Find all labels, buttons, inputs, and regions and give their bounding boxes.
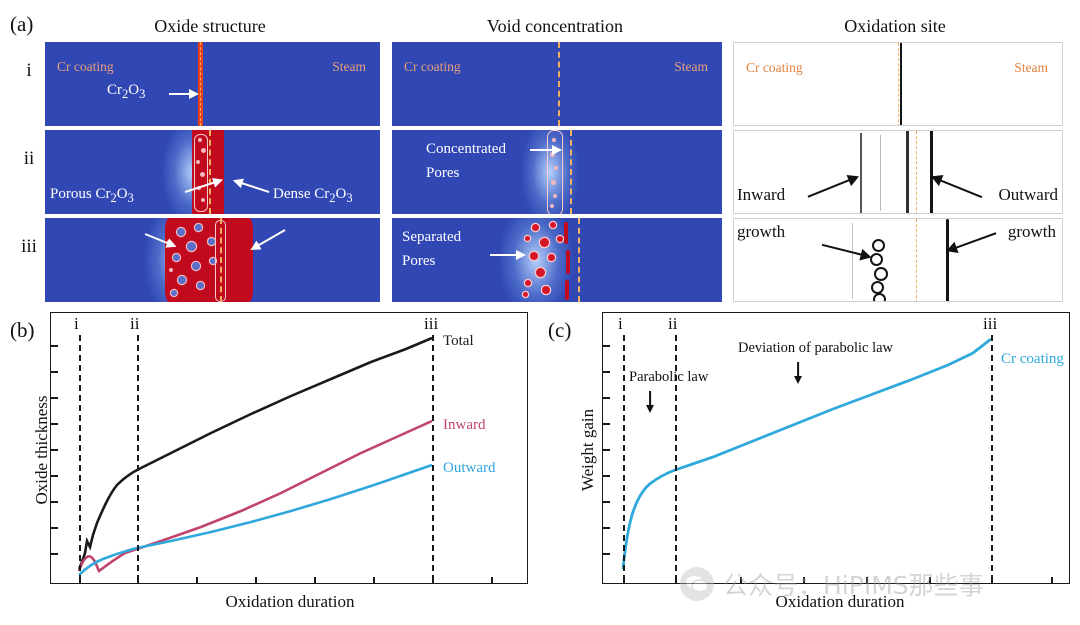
- pore-outline: [871, 281, 884, 294]
- tile-void-concentration-ii: Concentrated Pores: [392, 130, 722, 214]
- annotation-separated-pores-line1: Separated: [402, 229, 461, 246]
- y-tick: [603, 397, 610, 399]
- series-label-inward: Inward: [443, 417, 485, 434]
- tile-label-steam: Steam: [674, 59, 708, 75]
- marker-line-ii: [137, 335, 139, 571]
- cr2o3-sub2: 3: [139, 87, 145, 101]
- oxidation-site-streak: [900, 43, 902, 126]
- interface-dash-line: [200, 42, 201, 126]
- x-tick: [675, 575, 677, 583]
- marker-line-i: [79, 335, 81, 571]
- pore-outline: [874, 267, 888, 281]
- arrow-outward-growth: [930, 176, 982, 197]
- tile-oxidation-site-ii: Inward Outward: [733, 130, 1063, 214]
- interface-dash-line: [898, 43, 899, 126]
- x-tick: [740, 577, 742, 583]
- x-tick: [432, 575, 434, 583]
- pore: [195, 224, 202, 231]
- marker-line-iii: [432, 335, 434, 571]
- tile-void-concentration-iii: Separated Pores: [392, 218, 722, 302]
- y-tick: [51, 475, 58, 477]
- arrow-down-deviation: [793, 362, 803, 384]
- panel-c-letter: (c): [548, 318, 571, 343]
- row-numeral-ii: ii: [16, 148, 42, 170]
- pore-band-outline: [194, 134, 208, 212]
- annotation-dense-cr2o3: Dense Cr2O3: [273, 186, 353, 206]
- annotation-inward-growth-line2: growth: [737, 222, 785, 242]
- annotation-porous-cr2o3: Porous Cr2O3: [50, 186, 134, 206]
- pore: [525, 236, 530, 241]
- oxide-streak: [565, 280, 569, 300]
- x-tick: [929, 577, 931, 583]
- pore: [171, 290, 177, 296]
- chart-c-marker-ii: ii: [668, 314, 677, 334]
- cr2o3-pre: Cr: [107, 82, 122, 98]
- y-tick: [603, 345, 610, 347]
- annotation-deviation-parabolic-law: Deviation of parabolic law: [738, 340, 893, 357]
- cr2o3-mid: O: [128, 82, 139, 98]
- y-tick: [51, 397, 58, 399]
- y-tick: [51, 423, 58, 425]
- pore: [551, 180, 556, 185]
- x-tick: [991, 575, 993, 583]
- chart-b-marker-ii: ii: [130, 314, 139, 334]
- row-numeral-i: i: [16, 60, 42, 82]
- x-tick: [314, 577, 316, 583]
- annotation-concentrated-pores-line2: Pores: [426, 165, 459, 182]
- y-tick: [51, 371, 58, 373]
- porous-prefix: Porous: [50, 186, 95, 202]
- panel-a-letter: (a): [10, 12, 33, 37]
- pore: [178, 276, 186, 284]
- annotation-concentrated-pores-line1: Concentrated: [426, 141, 506, 158]
- x-tick: [255, 577, 257, 583]
- y-tick: [603, 371, 610, 373]
- chart-b-marker-i: i: [74, 314, 79, 334]
- chart-b-marker-iii: iii: [424, 314, 438, 334]
- y-tick: [51, 553, 58, 555]
- panel-b-letter: (b): [10, 318, 35, 343]
- y-tick: [51, 527, 58, 529]
- pore: [548, 254, 555, 261]
- tile-oxidation-site-i: Cr coating Steam: [733, 42, 1063, 126]
- interface-dash-line: [916, 131, 917, 214]
- x-tick: [137, 575, 139, 583]
- marker-line-iii: [991, 335, 993, 571]
- pore-band-outline: [547, 130, 563, 214]
- pore: [197, 282, 204, 289]
- interface-dash-line: [209, 130, 211, 214]
- pore: [552, 138, 556, 142]
- y-tick: [603, 501, 610, 503]
- tile-label-steam: Steam: [1014, 60, 1048, 76]
- pore: [553, 194, 557, 198]
- series-label-outward: Outward: [443, 460, 496, 477]
- arrow-down-parabolic-law: [645, 391, 655, 413]
- y-tick: [51, 501, 58, 503]
- oxide-streak: [566, 250, 570, 274]
- annotation-outward-growth-line2: growth: [1008, 222, 1056, 242]
- oxidation-site-streak-inner: [860, 133, 862, 213]
- chart-c-xlabel: Oxidation duration: [700, 592, 980, 612]
- series-label-cr-coating: Cr coating: [1001, 351, 1064, 368]
- pore: [187, 242, 196, 251]
- column-title-void-concentration: Void concentration: [405, 16, 705, 37]
- tile-void-concentration-i: Cr coating Steam: [392, 42, 722, 126]
- chart-c-ylabel: Weight gain: [578, 370, 598, 530]
- pore: [542, 286, 550, 294]
- arrow-dense: [233, 180, 269, 192]
- pore: [550, 222, 556, 228]
- pore: [169, 268, 173, 272]
- tile-oxide-structure-i: Cr coating Steam Cr2O3: [45, 42, 380, 126]
- tile-label-cr-coating: Cr coating: [746, 60, 803, 76]
- tile-label-cr-coating: Cr coating: [404, 59, 461, 75]
- series-outward-line: [79, 465, 432, 575]
- interface-dash-line: [916, 219, 917, 302]
- x-tick: [373, 577, 375, 583]
- tile-oxidation-site-iii: growth growth: [733, 218, 1063, 302]
- x-tick: [866, 577, 868, 583]
- column-title-oxidation-site: Oxidation site: [745, 16, 1045, 37]
- oxidation-site-streak-faint: [852, 223, 853, 299]
- chart-b-svg: [51, 313, 527, 583]
- interface-dash-line: [570, 130, 572, 214]
- arrow-inward-growth: [822, 245, 872, 258]
- pore-outline: [873, 293, 886, 302]
- pore: [173, 254, 180, 261]
- y-tick: [603, 423, 610, 425]
- x-tick: [196, 577, 198, 583]
- arrow-outward-growth: [943, 233, 996, 252]
- pore: [525, 280, 531, 286]
- oxidation-site-streak-faint: [880, 135, 881, 211]
- oxidation-site-streak-mid: [906, 131, 909, 214]
- annotation-separated-pores-line2: Pores: [402, 253, 435, 270]
- y-tick: [603, 553, 610, 555]
- pore: [192, 262, 200, 270]
- tile-oxide-structure-ii: Porous Cr2O3 Dense Cr2O3: [45, 130, 380, 214]
- y-tick: [603, 527, 610, 529]
- series-total-line: [79, 338, 432, 569]
- annotation-outward-growth-line1: Outward: [999, 185, 1058, 205]
- chart-c-marker-iii: iii: [983, 314, 997, 334]
- y-tick: [603, 475, 610, 477]
- oxide-streak: [564, 222, 568, 244]
- x-tick: [79, 575, 81, 583]
- row-numeral-iii: iii: [16, 236, 42, 258]
- tile-oxide-structure-iii: [45, 218, 380, 302]
- annotation-inward-growth-line1: Inward: [737, 185, 785, 205]
- chart-b-xlabel: Oxidation duration: [150, 592, 430, 612]
- arrow-inward-growth: [808, 176, 860, 197]
- chart-c-plot-area: i ii iii Parabolic law Deviation of para…: [602, 312, 1070, 584]
- chart-c-marker-i: i: [618, 314, 623, 334]
- x-tick: [491, 577, 493, 583]
- interface-dash-line: [558, 42, 560, 126]
- annotation-cr2o3: Cr2O3: [107, 82, 145, 102]
- pore: [540, 238, 549, 247]
- interface-dash-line: [220, 218, 222, 302]
- pore: [550, 204, 554, 208]
- chart-b-plot-area: i ii iii Total Inward Outward: [50, 312, 528, 584]
- chart-b-ylabel: Oxide thickness: [32, 360, 52, 540]
- x-tick: [623, 575, 625, 583]
- pore: [532, 224, 539, 231]
- pore: [557, 236, 563, 242]
- tile-label-cr-coating: Cr coating: [57, 59, 114, 75]
- interface-dash-line: [578, 218, 580, 302]
- y-tick: [51, 449, 58, 451]
- oxidation-site-streak-outer: [946, 219, 949, 302]
- pore-outline: [872, 239, 885, 252]
- tile-label-steam: Steam: [332, 59, 366, 75]
- dense-prefix: Dense: [273, 186, 314, 202]
- pore: [177, 228, 185, 236]
- pore: [530, 252, 538, 260]
- column-title-oxide-structure: Oxide structure: [60, 16, 360, 37]
- x-tick: [1051, 577, 1053, 583]
- y-tick: [51, 345, 58, 347]
- arrow-dense: [249, 230, 285, 251]
- x-tick: [803, 577, 805, 583]
- pore: [554, 166, 558, 170]
- pore: [523, 292, 528, 297]
- y-tick: [603, 449, 610, 451]
- pore: [536, 268, 545, 277]
- series-label-total: Total: [443, 333, 474, 350]
- annotation-parabolic-law: Parabolic law: [629, 369, 708, 386]
- pore: [208, 238, 215, 245]
- marker-line-i: [623, 335, 625, 571]
